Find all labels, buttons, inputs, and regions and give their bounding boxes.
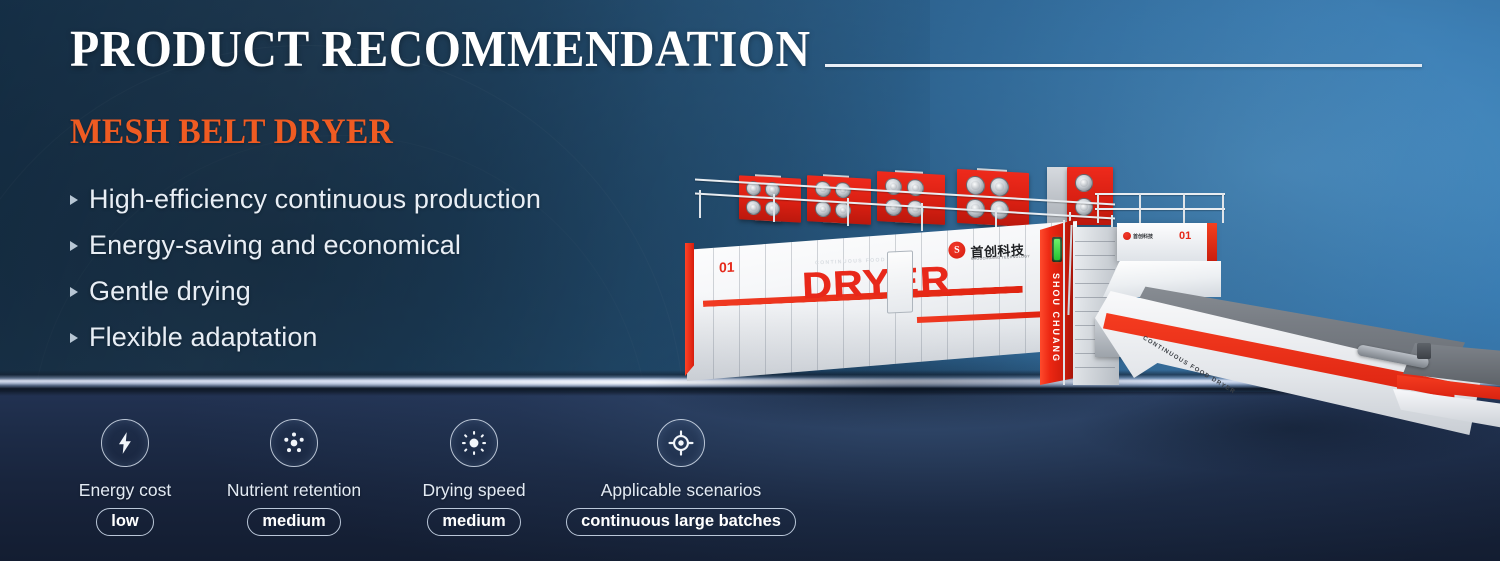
spec-drying-speed: Drying speed medium [396,419,552,536]
railing-rail [1095,193,1225,195]
feature-text: High-efficiency continuous production [89,184,541,215]
spec-icon-ring [657,419,705,467]
spec-nutrient-retention: Nutrient retention medium [194,419,394,536]
stair-step [1075,241,1115,242]
unit-number-right: 01 [1179,230,1191,242]
feature-text: Gentle drying [89,276,251,307]
list-item: Energy-saving and economical [70,222,541,268]
list-item: Flexible adaptation [70,314,541,360]
bullet-triangle-icon [70,287,78,297]
spec-value-badge: low [96,508,154,536]
stair-step [1075,269,1115,270]
logo-letter: S [954,244,960,255]
spec-applicable-scenarios: Applicable scenarios continuous large ba… [552,419,810,536]
right-housing-red-cap [1207,223,1217,265]
right-upper-housing [1117,223,1213,261]
sun-icon [461,430,487,456]
spec-icon-ring [101,419,149,467]
spec-icon-ring [270,419,318,467]
railing-post [1183,193,1185,223]
body-left-red-edge [685,243,694,376]
bullet-triangle-icon [70,333,78,343]
right-housing-logo: 首创科技 [1123,232,1153,240]
discharge-hopper [1397,337,1500,429]
bullet-triangle-icon [70,241,78,251]
railing-post [1097,193,1099,223]
railing-post [1139,193,1141,223]
railing-rail [695,193,1115,220]
stair-handrail [1063,220,1065,385]
feature-list: High-efficiency continuous production En… [70,176,541,360]
bullet-triangle-icon [70,195,78,205]
page-title: PRODUCT RECOMMENDATION [70,20,811,79]
spec-label: Drying speed [422,480,525,501]
spec-value-badge: medium [427,508,520,536]
spec-summary-row: Energy cost low Nutrient retention [0,414,820,544]
product-subtitle: MESH BELT DRYER [70,110,393,152]
product-recommendation-banner: 01 CONTINUOUS FOOD DRYER S 首创科技 SHOUCHUA… [0,0,1500,561]
feature-text: Energy-saving and economical [89,230,461,261]
spec-label: Nutrient retention [227,480,361,501]
lightning-bolt-icon [112,430,138,456]
fan-blade-icon [1075,174,1093,192]
molecule-nodes-icon [281,430,307,456]
pillar-brand-text: SHOU CHUANG [1051,273,1061,363]
list-item: Gentle drying [70,268,541,314]
spec-value-badge: continuous large batches [566,508,796,536]
railing-post [921,203,923,231]
logo-badge-icon [1123,232,1131,240]
target-crosshair-icon [668,430,694,456]
unit-number-left: 01 [719,259,735,276]
brand-main-text: DRYER [801,261,951,304]
spec-icon-ring [450,419,498,467]
spec-label: Applicable scenarios [601,480,762,501]
roof-railing [695,191,1115,227]
railing-post [1222,193,1224,223]
stair-step [1075,367,1115,368]
spec-value-badge: medium [247,508,340,536]
platform-railing [1095,193,1225,227]
logo-chinese-name: 首创科技 [1133,233,1153,240]
cylinder-mount [1417,343,1431,359]
spec-label: Energy cost [79,480,171,501]
railing-post [847,198,849,226]
stair-step [1075,255,1115,256]
service-door [887,250,913,313]
feature-text: Flexible adaptation [89,322,318,353]
status-led-indicator [1052,237,1062,262]
spec-energy-cost: Energy cost low [52,419,198,536]
railing-post [699,190,701,218]
list-item: High-efficiency continuous production [70,176,541,222]
railing-rail [1095,208,1225,210]
railing-post [773,194,775,222]
title-underline-rule [825,64,1422,67]
